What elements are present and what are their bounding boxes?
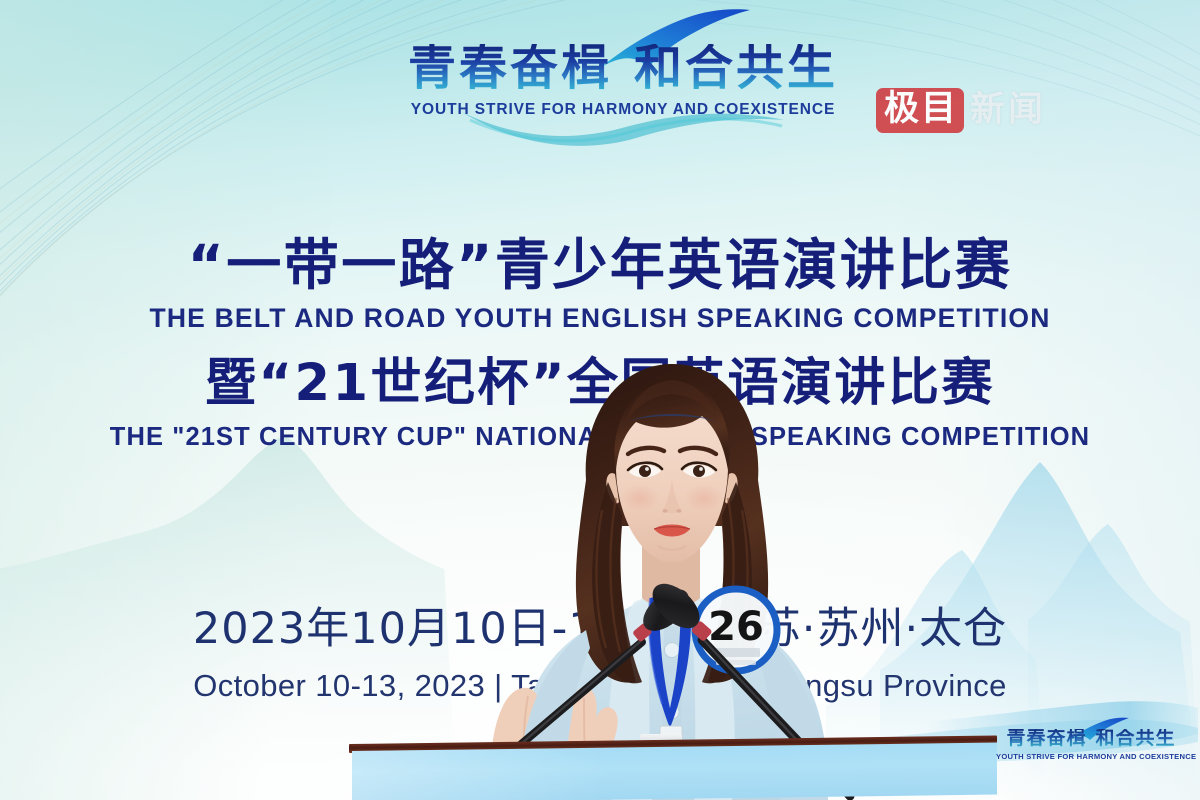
corner-logo-english: YOUTH STRIVE FOR HARMONY AND COEXISTENCE xyxy=(996,752,1186,761)
corner-logo-cn-part2: 和合共生 xyxy=(1096,728,1176,749)
event-logo-cn-part2: 和合共生 xyxy=(634,42,838,95)
news-watermark-plain: 新 闻 xyxy=(970,93,1043,128)
event-logo: 青春奋楫和合共生 YOUTH STRIVE FOR HARMONY AND CO… xyxy=(398,44,848,152)
podium xyxy=(349,744,997,800)
corner-event-logo: 青春奋楫和合共生 YOUTH STRIVE FOR HARMONY AND CO… xyxy=(996,729,1186,761)
news-watermark-char-3: 新 xyxy=(970,93,1005,128)
news-watermark-logo: 极 目 新 闻 xyxy=(876,88,1043,133)
news-watermark-char-4: 闻 xyxy=(1008,93,1043,128)
event-logo-english: YOUTH STRIVE FOR HARMONY AND COEXISTENCE xyxy=(398,101,848,119)
news-watermark-char-2: 目 xyxy=(921,92,956,127)
podium-front-panel xyxy=(352,743,997,800)
primary-title-chinese: “一带一路”青少年英语演讲比赛 xyxy=(0,236,1200,294)
news-watermark-char-1: 极 xyxy=(884,92,919,127)
corner-logo-cn-part1: 青春奋楫 xyxy=(1006,728,1086,749)
screenshot-root: 青春奋楫和合共生 YOUTH STRIVE FOR HARMONY AND CO… xyxy=(0,0,1200,800)
event-logo-cn-part1: 青春奋楫 xyxy=(408,42,612,95)
event-logo-chinese: 青春奋楫和合共生 xyxy=(398,44,848,94)
corner-logo-chinese: 青春奋楫和合共生 xyxy=(996,729,1186,748)
news-watermark-box: 极 目 xyxy=(876,88,964,133)
